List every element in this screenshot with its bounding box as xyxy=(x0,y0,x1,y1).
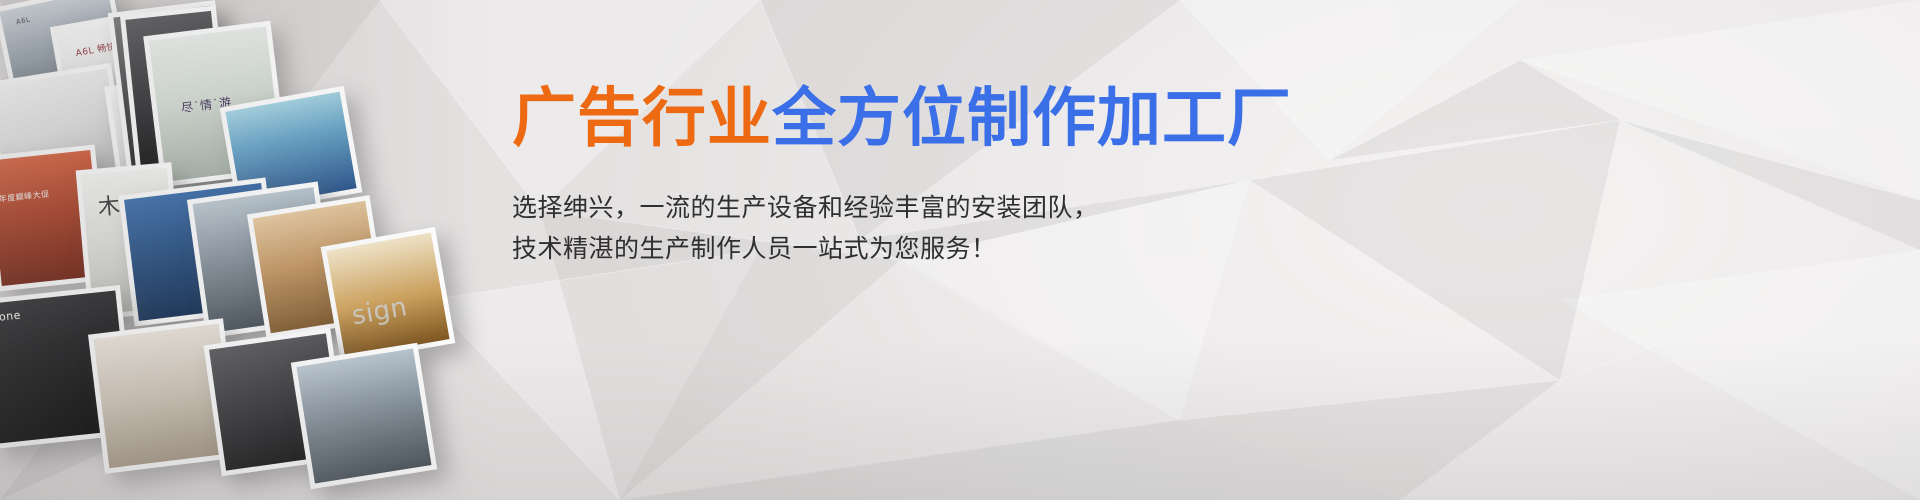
collage-card-caption: 年度巅峰大促 xyxy=(0,189,50,205)
collage-card: sign xyxy=(321,227,456,363)
collage-card-caption: hone xyxy=(0,309,21,325)
collage-card-caption: 木 xyxy=(96,188,121,222)
banner-copy: 广告行业全方位制作加工厂 选择绅兴，一流的生产设备和经验丰富的安装团队， 技术精… xyxy=(512,86,1412,270)
subcopy-line-two: 技术精湛的生产制作人员一站式为您服务！ xyxy=(512,228,1412,269)
subcopy: 选择绅兴，一流的生产设备和经验丰富的安装团队， 技术精湛的生产制作人员一站式为您… xyxy=(512,187,1412,270)
collage-card xyxy=(291,343,437,489)
subcopy-line-one: 选择绅兴，一流的生产设备和经验丰富的安装团队， xyxy=(512,187,1412,228)
promo-banner: A6L A6L 畅快版 尽˙情˙游 xyxy=(0,0,1920,500)
headline-part-two: 全方位制作加工厂 xyxy=(772,82,1292,156)
collage-card-caption: A6L xyxy=(15,16,31,27)
headline-part-one: 广告行业 xyxy=(512,82,772,156)
headline: 广告行业全方位制作加工厂 xyxy=(512,86,1412,153)
collage-card-caption: sign xyxy=(350,292,410,331)
photo-collage: A6L A6L 畅快版 尽˙情˙游 xyxy=(0,0,470,500)
